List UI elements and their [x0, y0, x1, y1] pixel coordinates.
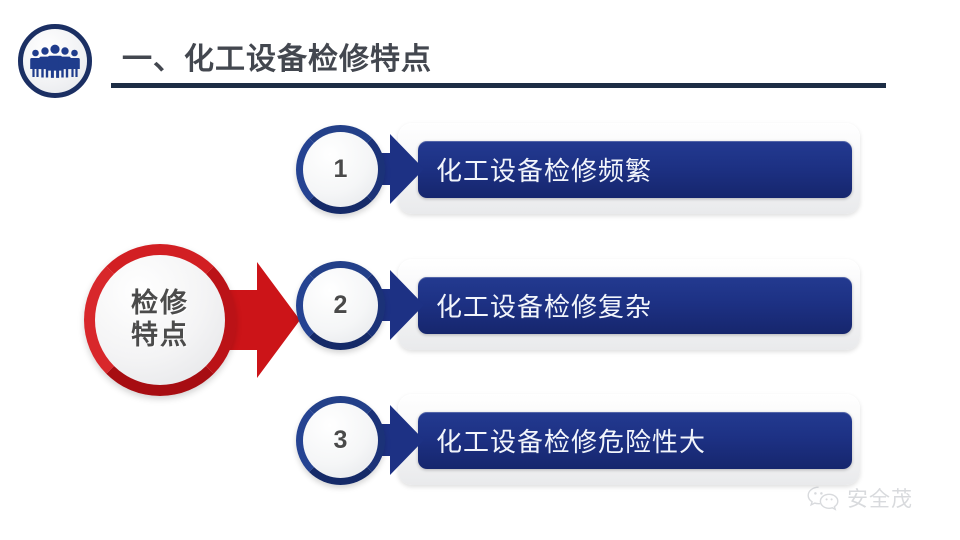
item-number-circle: 1	[296, 125, 385, 214]
item-bar: 化工设备检修危险性大	[418, 412, 852, 469]
item-number: 1	[334, 155, 348, 184]
list-item[interactable]: 化工设备检修危险性大 3	[296, 392, 866, 487]
left-category-label: 检修 特点	[131, 288, 189, 352]
left-category-badge: 检修 特点	[84, 244, 236, 396]
wechat-icon	[806, 485, 840, 511]
item-bar-frame: 化工设备检修频繁	[398, 123, 860, 214]
item-label: 化工设备检修频繁	[418, 151, 652, 188]
item-bar: 化工设备检修频繁	[418, 141, 852, 198]
header-divider	[111, 83, 886, 88]
item-number: 3	[334, 426, 348, 455]
item-bar-frame: 化工设备检修危险性大	[398, 394, 860, 485]
item-number-circle: 3	[296, 396, 385, 485]
watermark-text: 安全茂	[847, 483, 913, 513]
item-number-circle: 2	[296, 261, 385, 350]
page-title: 一、化工设备检修特点	[122, 34, 432, 78]
slide-canvas: 一、化工设备检修特点 检修 特点 化工设备检修频繁 1 化工设备检修复杂	[0, 0, 960, 540]
list-item[interactable]: 化工设备检修复杂 2	[296, 257, 866, 352]
item-bar: 化工设备检修复杂	[418, 277, 852, 334]
item-label: 化工设备检修危险性大	[418, 422, 706, 459]
watermark: 安全茂	[806, 483, 913, 513]
item-bar-frame: 化工设备检修复杂	[398, 259, 860, 350]
item-number: 2	[334, 291, 348, 320]
item-label: 化工设备检修复杂	[418, 287, 652, 324]
list-item[interactable]: 化工设备检修频繁 1	[296, 121, 866, 216]
people-group-icon	[18, 24, 92, 98]
